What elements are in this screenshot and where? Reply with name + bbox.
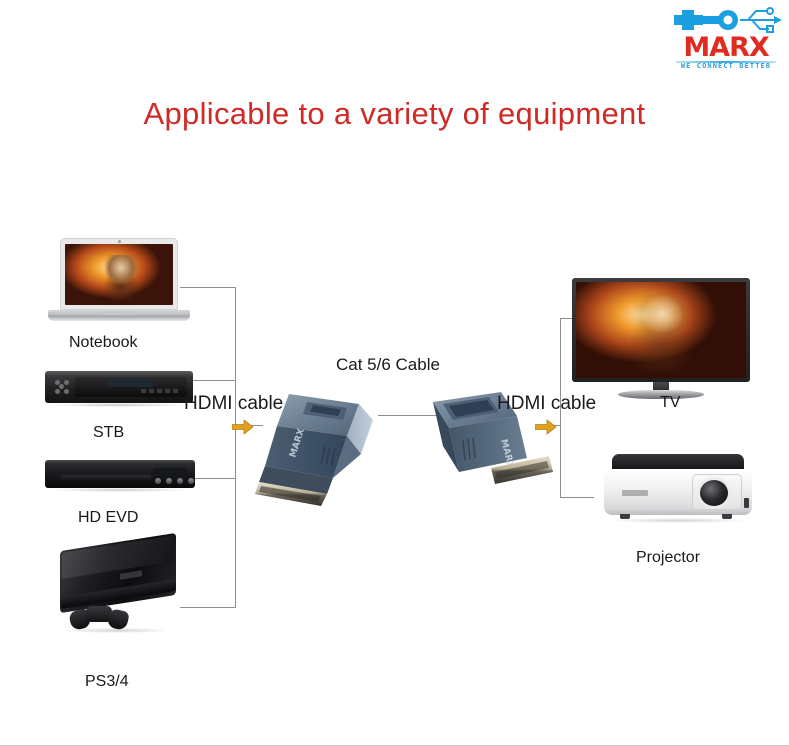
ps3-controller <box>70 604 128 630</box>
dvd-display <box>153 468 187 476</box>
label-ps3-4: PS3/4 <box>85 673 129 691</box>
projector-vent <box>744 498 749 508</box>
label-tv: TV <box>660 394 680 412</box>
laptop-screen-image <box>65 244 173 305</box>
brand-tagline: WE CONNECT BETTER <box>668 62 784 70</box>
right-arrow-icon <box>232 419 254 435</box>
device-tv <box>572 278 750 402</box>
label-stb: STB <box>93 424 124 442</box>
branch-ps3 <box>180 607 236 608</box>
tv-screen-image <box>576 282 746 378</box>
laptop-screen <box>60 238 178 310</box>
label-hdmi-in: HDMI cable <box>184 393 283 415</box>
stb-display <box>107 380 153 387</box>
label-cat-cable: Cat 5/6 Cable <box>336 355 440 375</box>
label-projector: Projector <box>636 549 700 567</box>
label-hd-evd: HD EVD <box>78 509 138 527</box>
device-notebook <box>48 238 190 324</box>
branch-projector <box>560 497 594 498</box>
slide-canvas: MARX WE CONNECT BETTER Applicable to a v… <box>0 0 789 746</box>
page-title: Applicable to a variety of equipment <box>0 96 789 132</box>
projector-brand-mark <box>622 490 648 496</box>
projector-lens <box>700 480 728 506</box>
brand-logo: MARX WE CONNECT BETTER <box>668 4 784 74</box>
label-notebook: Notebook <box>69 334 138 352</box>
device-hd-evd <box>45 460 197 494</box>
left-bracket-spine <box>235 287 236 607</box>
device-projector <box>604 454 754 524</box>
dvd-tray <box>61 475 151 481</box>
laptop-trackpad <box>102 311 136 315</box>
webcam-icon <box>118 240 121 243</box>
device-stb <box>45 371 195 409</box>
brand-wordmark: MARX <box>668 34 784 61</box>
device-ps3-4 <box>60 542 180 636</box>
